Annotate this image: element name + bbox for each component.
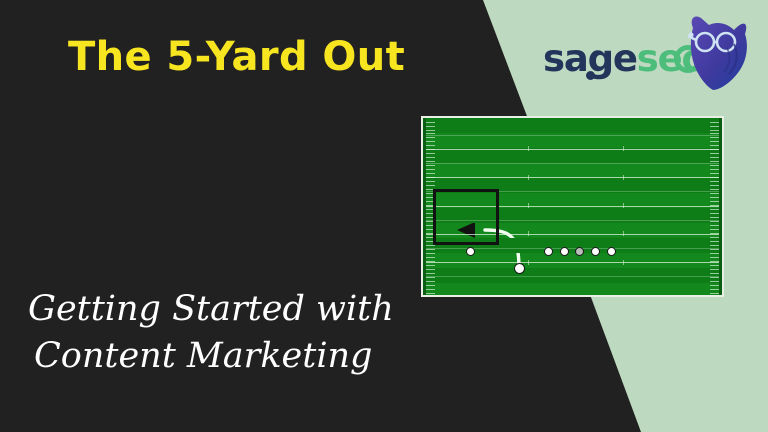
field-yard-line [423,163,722,164]
field-sideline-tick [426,285,435,286]
zone-highlight-box [433,189,499,246]
field-sideline-tick [426,141,435,142]
field-sideline-tick [710,177,719,178]
field-sideline-tick [710,130,719,131]
map-pin-dot-icon [586,71,595,80]
field-sideline-tick [426,149,435,150]
field-yard-line [423,149,722,150]
field-sideline-right [719,118,722,295]
field-sideline-tick [710,122,719,123]
field-sideline-tick [710,189,719,190]
field-sideline-tick [710,237,719,238]
field-hash-mark [623,146,624,151]
field-sideline-tick [710,161,719,162]
field-sideline-tick [710,201,719,202]
field-sideline-tick [426,122,435,123]
owl-with-glasses-icon [679,14,749,90]
field-sideline-tick [710,193,719,194]
field-hash-mark [623,203,624,208]
field-sideline-tick [426,273,435,274]
field-sideline-tick [426,177,435,178]
field-sideline-tick [710,149,719,150]
field-sideline-tick [426,161,435,162]
field-sideline-tick [710,169,719,170]
field-sideline-tick [710,249,719,250]
field-sideline-tick [426,185,435,186]
field-sideline-tick [426,253,435,254]
field-sideline-tick [710,221,719,222]
field-sideline-tick [426,145,435,146]
field-sideline-tick [710,293,719,294]
field-hash-mark [528,231,529,236]
field-sideline-tick [426,277,435,278]
field-sideline-tick [426,257,435,258]
field-sideline-tick [710,233,719,234]
field-sideline-tick [710,209,719,210]
field-hash-mark [528,146,529,151]
field-sideline-tick [710,261,719,262]
field-sideline-tick [426,165,435,166]
field-sideline-tick [710,253,719,254]
field-sideline-tick [710,289,719,290]
field-sideline-tick [710,205,719,206]
field-sideline-tick [426,289,435,290]
field-sideline-tick [426,269,435,270]
field-sideline-tick [426,181,435,182]
field-sideline-tick [710,241,719,242]
field-sideline-tick [710,217,719,218]
field-sideline-tick [710,281,719,282]
field-yard-line [423,262,722,263]
field-sideline-tick [426,157,435,158]
field-sideline-tick [426,261,435,262]
field-sideline-tick [426,169,435,170]
subtitle-line-1: Getting Started with [28,286,428,333]
field-hash-mark [528,260,529,265]
field-sideline-tick [426,133,435,134]
field-sideline-tick [426,130,435,131]
field-sideline-tick [710,213,719,214]
field-sideline-tick [426,249,435,250]
field-sideline-tick [426,126,435,127]
field-sideline-tick [710,225,719,226]
football-play-diagram [421,116,724,297]
field-sideline-tick [710,265,719,266]
field-sideline-tick [710,285,719,286]
field-sideline-tick [710,126,719,127]
field-sideline-tick [426,281,435,282]
field-sideline-tick [710,273,719,274]
field-sideline-tick [710,181,719,182]
field-yard-line [423,135,722,136]
field-sideline-tick [710,157,719,158]
field-sideline-tick [710,197,719,198]
field-hash-mark [528,203,529,208]
field-mow-stripe [423,148,722,163]
field-mow-stripe [423,118,722,133]
field-hash-mark [623,175,624,180]
field-yard-line [423,276,722,277]
field-sideline-tick [710,141,719,142]
field-sideline-tick [710,269,719,270]
field-sideline-tick [710,185,719,186]
line-dot-4 [607,247,616,256]
field-sideline-tick [710,173,719,174]
field-sideline-tick [710,153,719,154]
field-sideline-tick [426,137,435,138]
field-sideline-tick [710,145,719,146]
field-sideline-tick [710,277,719,278]
subtitle-line-2: Content Marketing [28,333,428,380]
subtitle-script: Getting Started with Content Marketing [28,286,428,381]
field-hash-mark [623,260,624,265]
thumbnail-canvas: sageseo The 5-Yard Out [0,0,768,432]
field-sideline-tick [710,245,719,246]
page-title: The 5-Yard Out [68,36,448,78]
field-hash-mark [528,175,529,180]
field-sideline-tick [710,165,719,166]
field-hash-mark [623,231,624,236]
field-sideline-tick [710,229,719,230]
field-sideline-tick [426,173,435,174]
sageseo-logo[interactable]: sageseo [543,14,753,96]
field-sideline-tick [710,257,719,258]
field-surface [423,118,722,295]
field-sideline-tick [426,265,435,266]
field-yard-line [423,177,722,178]
field-sideline-tick [710,137,719,138]
field-sideline-tick [710,133,719,134]
field-sideline-tick [426,293,435,294]
field-sideline-tick [426,153,435,154]
